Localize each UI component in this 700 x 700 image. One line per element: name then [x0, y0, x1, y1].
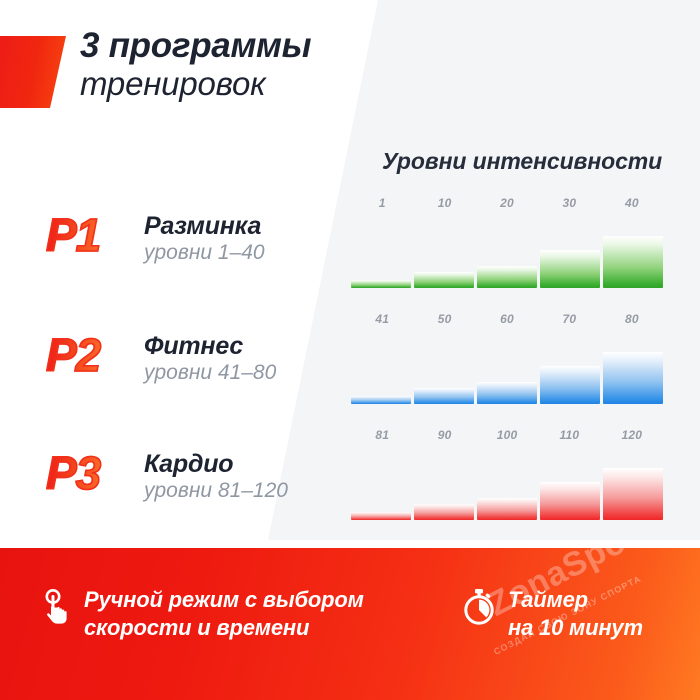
bar-chart-p1: 1 10 20 30 40: [351, 196, 663, 288]
bar-label: 50: [413, 312, 475, 334]
bar-label: 1: [351, 196, 413, 218]
accent-shape: [0, 36, 88, 108]
infographic-poster: 3 программы тренировок P1 Разминка уровн…: [0, 0, 700, 700]
program-levels-p1: уровни 1–40: [144, 241, 265, 265]
feature-timer-line2: на 10 минут: [508, 615, 643, 640]
bar: [603, 236, 663, 288]
bar: [540, 250, 600, 288]
bar: [351, 280, 411, 288]
bar-label: 30: [538, 196, 600, 218]
program-title-p1: Разминка: [144, 212, 265, 240]
bar: [414, 272, 474, 288]
program-code-p2: P2: [46, 332, 100, 378]
bar-label: 60: [476, 312, 538, 334]
page-title: 3 программы тренировок: [80, 28, 380, 102]
stopwatch-icon: [462, 588, 496, 631]
bar-labels-p1: 1 10 20 30 40: [351, 196, 663, 218]
bar-label: 90: [413, 428, 475, 450]
feature-manual-line1: Ручной режим с выбором: [84, 587, 364, 612]
bar: [477, 382, 537, 404]
bar-label: 110: [538, 428, 600, 450]
bar-labels-p2: 41 50 60 70 80: [351, 312, 663, 334]
bar-label: 80: [601, 312, 663, 334]
bars-p1: [351, 222, 663, 288]
bar: [540, 366, 600, 404]
feature-banner: Ручной режим с выбором скорости и времен…: [0, 548, 700, 700]
program-title-p2: Фитнес: [144, 332, 276, 360]
page-title-line2: тренировок: [80, 66, 380, 102]
bar: [351, 512, 411, 520]
bar-labels-p3: 81 90 100 110 120: [351, 428, 663, 450]
program-title-p3: Кардио: [144, 450, 288, 478]
bar-label: 70: [538, 312, 600, 334]
bar-label: 81: [351, 428, 413, 450]
program-row-p2: P2 Фитнес уровни 41–80: [46, 332, 296, 408]
bars-p3: [351, 454, 663, 520]
bar: [477, 266, 537, 288]
feature-manual-text: Ручной режим с выбором скорости и времен…: [84, 586, 364, 642]
feature-manual-line2: скорости и времени: [84, 615, 309, 640]
program-body-p3: Кардио уровни 81–120: [144, 450, 288, 503]
program-row-p3: P3 Кардио уровни 81–120: [46, 450, 296, 526]
bars-p2: [351, 338, 663, 404]
bar: [603, 468, 663, 520]
bar-label: 100: [476, 428, 538, 450]
program-body-p2: Фитнес уровни 41–80: [144, 332, 276, 385]
hand-tap-icon: [42, 588, 72, 631]
bar-label: 120: [601, 428, 663, 450]
bar-label: 40: [601, 196, 663, 218]
program-levels-p3: уровни 81–120: [144, 479, 288, 503]
bar: [477, 498, 537, 520]
bar-label: 10: [413, 196, 475, 218]
bar: [351, 396, 411, 404]
bar-chart-p2: 41 50 60 70 80: [351, 312, 663, 404]
bar: [540, 482, 600, 520]
bar: [414, 504, 474, 520]
bar-label: 41: [351, 312, 413, 334]
page-title-line1: 3 программы: [80, 28, 380, 64]
program-body-p1: Разминка уровни 1–40: [144, 212, 265, 265]
program-code-p3: P3: [46, 450, 100, 496]
bar: [414, 388, 474, 404]
bar-label: 20: [476, 196, 538, 218]
bar: [603, 352, 663, 404]
program-code-p1: P1: [46, 212, 100, 258]
program-row-p1: P1 Разминка уровни 1–40: [46, 212, 296, 288]
feature-timer-line1: Таймер: [508, 587, 588, 612]
feature-timer-text: Таймер на 10 минут: [508, 586, 643, 642]
bar-chart-p3: 81 90 100 110 120: [351, 428, 663, 520]
feature-manual-mode: Ручной режим с выбором скорости и времен…: [42, 586, 364, 642]
feature-timer: Таймер на 10 минут: [462, 586, 643, 642]
program-levels-p2: уровни 41–80: [144, 361, 276, 385]
levels-panel-title: Уровни интенсивности: [382, 148, 662, 175]
